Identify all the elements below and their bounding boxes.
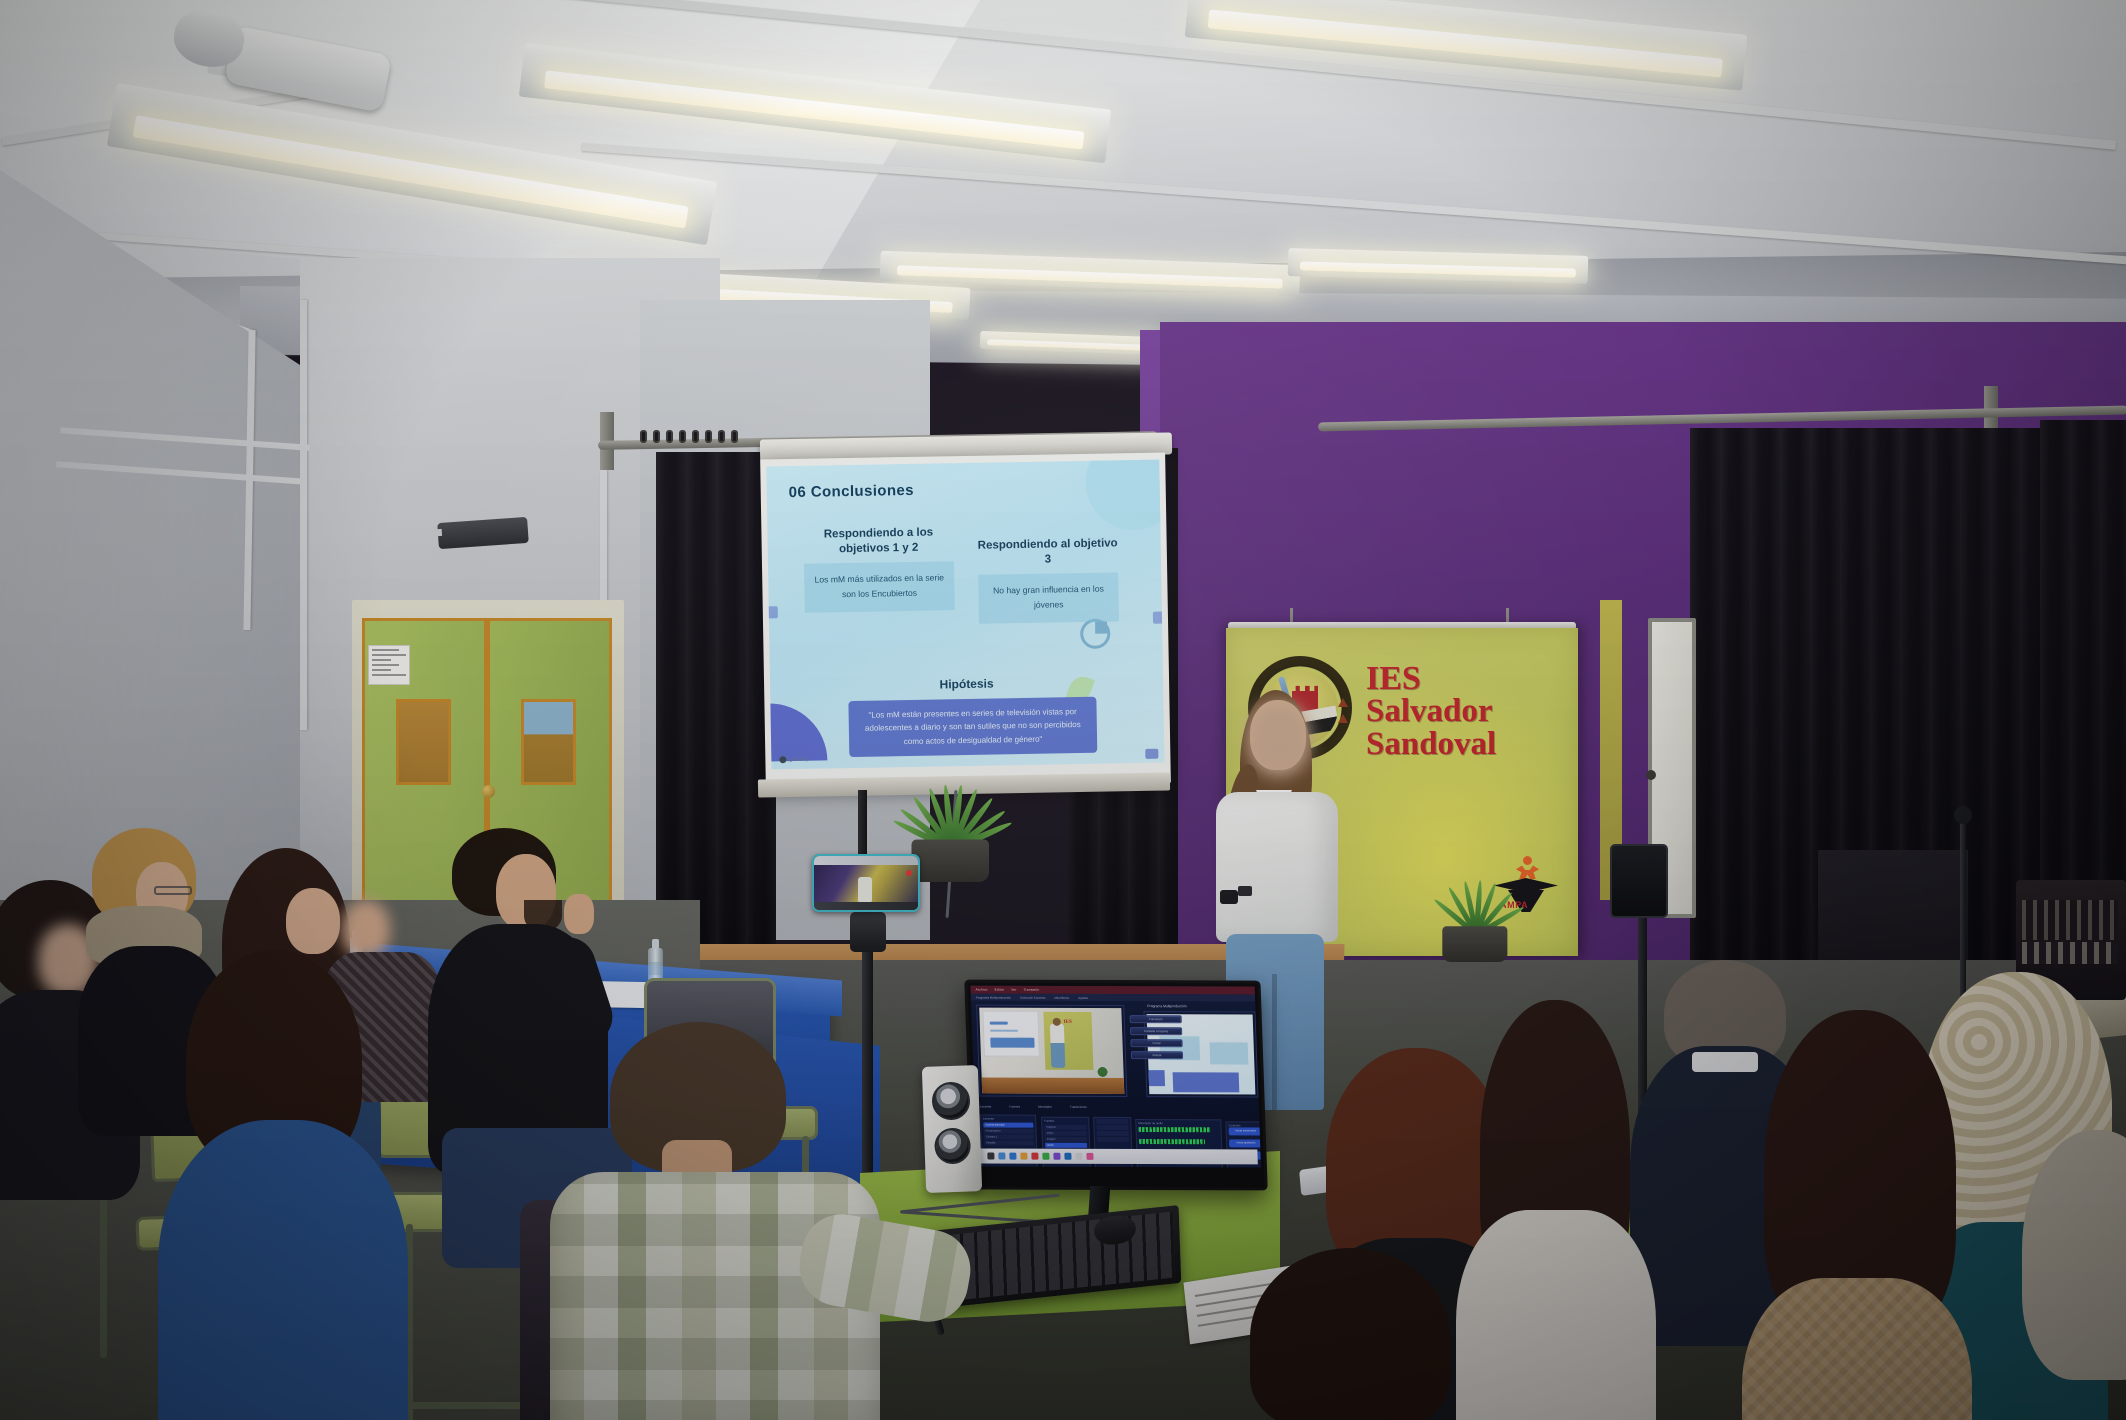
slide-decoration-quarter (768, 702, 827, 761)
source-toggle-row[interactable] (1097, 1137, 1129, 1142)
tab-fuentes[interactable]: Fuentes (1009, 1105, 1020, 1109)
genially-logo-icon (779, 756, 786, 763)
taskbar-app-icon[interactable] (1075, 1153, 1082, 1160)
tripod-head[interactable] (850, 912, 886, 952)
preview-pane-program[interactable] (976, 1005, 1127, 1097)
source-row[interactable]: Vídeo (1045, 1131, 1087, 1136)
transition-controls[interactable]: Transición Pantalla completa Cortar Grab… (1130, 1015, 1184, 1063)
speaker-driver-icon (931, 1081, 970, 1120)
slide-next-button[interactable] (1153, 612, 1165, 624)
genially-label: genially (789, 756, 808, 762)
button-transicion[interactable]: Transición (1130, 1015, 1182, 1023)
button-cortar[interactable]: Cortar (1130, 1039, 1182, 1047)
taskbar-search-icon[interactable] (998, 1153, 1005, 1160)
plant-leaves (904, 750, 999, 850)
door-knob-icon[interactable] (482, 785, 495, 798)
crest-triangle-icon (1338, 714, 1348, 723)
blackout-curtain (656, 452, 776, 972)
menu-item-ver[interactable]: Ver (1011, 988, 1017, 992)
taskbar-app-icon[interactable] (1064, 1153, 1071, 1160)
wall-conduit (300, 300, 307, 730)
preview-slide-thumbnail (982, 1011, 1040, 1057)
panel-tab-row[interactable]: Escenas Fuentes Mezclador Transiciones (980, 1103, 1258, 1112)
eyeglasses-icon (154, 886, 192, 895)
scene-row[interactable]: Presentación (983, 1129, 1033, 1134)
banner-title-line-2: Salvador (1366, 695, 1572, 727)
projection-screen: 06 Conclusiones Respondiendo a los objet… (760, 452, 1171, 789)
crest-triangle-icon (1338, 698, 1348, 707)
hypothesis-text: "Los mM están presentes en series de tel… (848, 697, 1097, 758)
button-iniciar-transmision[interactable]: Iniciar transmisión (1229, 1127, 1261, 1135)
taskbar-explorer-icon[interactable] (1009, 1153, 1016, 1160)
plant-pot (1442, 926, 1507, 962)
monitor-screen[interactable]: Archivo Editar Ver Transmitir Programa M… (970, 986, 1261, 1168)
slide-decoration-circle (1085, 460, 1165, 531)
smartphone-camera[interactable] (812, 854, 920, 912)
banner-title: IES Salvador Sandoval (1366, 662, 1572, 760)
tab-mezclador[interactable]: Mezclador (1038, 1105, 1052, 1109)
slide-column-2: Respondiendo al objetivo 3 No hay gran i… (978, 536, 1119, 623)
presentation-slide: 06 Conclusiones Respondiendo a los objet… (766, 460, 1164, 770)
door-notice-paper (368, 645, 410, 685)
scene-row[interactable]: Cámara 1 (984, 1135, 1034, 1140)
slide-column-2-heading: Respondiendo al objetivo 3 (978, 536, 1118, 568)
tripod-column (1638, 906, 1647, 1116)
phone-status-bar (814, 856, 918, 865)
plant-pot (912, 840, 990, 883)
mixer-faders[interactable] (2022, 942, 2118, 964)
door-window (396, 699, 451, 784)
button-iniciar-grabacion[interactable]: Iniciar grabación (1229, 1139, 1261, 1147)
program-preview-content (979, 1008, 1124, 1094)
phone-camera-preview (814, 865, 918, 906)
scene-row[interactable]: Escena principal (983, 1123, 1033, 1128)
slide-title: 06 Conclusiones (789, 482, 914, 501)
source-row[interactable]: Imagen (1045, 1137, 1087, 1142)
button-pantalla-completa[interactable]: Pantalla completa (1130, 1027, 1182, 1035)
speaker-driver-icon (934, 1127, 971, 1164)
slide-column-1-heading: Respondiendo a los objetivos 1 y 2 (803, 525, 953, 557)
banner-title-line-3: Sandoval (1366, 728, 1572, 760)
record-indicator-icon (906, 870, 912, 876)
presentation-clicker[interactable] (1220, 890, 1238, 904)
banner-title-line-1: IES (1366, 662, 1572, 695)
source-row[interactable]: Audio (1045, 1143, 1087, 1148)
classroom-presentation-scene: 06 Conclusiones Respondiendo a los objet… (0, 0, 2126, 1420)
tab-transiciones[interactable]: Transiciones (1070, 1105, 1087, 1109)
panel-mezclador-header: Mezclador de audio (1136, 1120, 1220, 1126)
panel-escenas-header: Escenas (981, 1116, 1035, 1122)
taskbar-folder-icon[interactable] (1020, 1153, 1027, 1160)
scene-row[interactable]: Pantalla (984, 1140, 1034, 1145)
menu-item-transmitir[interactable]: Transmitir (1024, 988, 1040, 992)
button-grabar[interactable]: Grabar (1131, 1051, 1183, 1059)
slide-column-1-body: Los mM más utilizados en la serie son lo… (804, 562, 955, 613)
preview-presenter-thumbnail (1050, 1024, 1066, 1068)
plant-leaves (1436, 851, 1516, 935)
taskbar-app-icon[interactable] (1053, 1153, 1060, 1160)
subbar-item-ajustes[interactable]: Ajustes (1078, 995, 1088, 999)
source-toggle-row[interactable] (1096, 1119, 1128, 1124)
slide-fullscreen-button[interactable] (1145, 749, 1158, 759)
taskbar-start-icon[interactable] (987, 1153, 994, 1160)
taskbar-app-icon[interactable] (1031, 1153, 1038, 1160)
computer-monitor[interactable]: Archivo Editar Ver Transmitir Programa M… (964, 980, 1268, 1191)
windows-taskbar[interactable] (979, 1148, 1258, 1164)
source-toggle-row[interactable] (1096, 1125, 1128, 1130)
source-toggle-row[interactable] (1097, 1131, 1129, 1136)
wristwatch-icon (1238, 886, 1252, 896)
preview-stage-thumbnail (982, 1078, 1125, 1094)
subbar-item-programa[interactable]: Programa Multiproducción (976, 995, 1011, 999)
mixer-knobs[interactable] (2022, 900, 2118, 940)
mounted-tablet[interactable] (1610, 844, 1668, 918)
desktop-speaker (922, 1065, 982, 1193)
genially-watermark: genially (779, 756, 808, 764)
presenter-shirt (1216, 792, 1338, 942)
ampa-person-icon (1516, 856, 1538, 882)
slide-column-2-body: No hay gran influencia en los jóvenes (978, 573, 1119, 623)
audio-level-meter (1138, 1127, 1210, 1132)
menu-item-archivo[interactable]: Archivo (976, 988, 988, 992)
pie-chart-icon (1080, 618, 1111, 649)
source-row[interactable]: Captura (1044, 1125, 1086, 1130)
taskbar-app-icon[interactable] (1042, 1153, 1049, 1160)
phone-control-bar (814, 902, 918, 910)
menu-item-editar[interactable]: Editar (995, 988, 1005, 992)
tab-escenas[interactable]: Escenas (980, 1105, 992, 1109)
taskbar-app-icon[interactable] (1086, 1153, 1093, 1160)
subbar-item-microfonos[interactable]: Micrófonos (1054, 995, 1069, 999)
app-main-area: Programa Multiproducción 06 Conclusiones… (971, 1001, 1260, 1132)
curtain-rings (640, 430, 738, 443)
slide-column-1: Respondiendo a los objetivos 1 y 2 Los m… (803, 525, 954, 612)
hypothesis-label: Hipótesis (770, 674, 1163, 695)
door-window (521, 699, 576, 784)
presenter-face-blurred (1248, 702, 1310, 776)
preview-pane-title: Programa Multiproducción (1147, 1004, 1187, 1008)
audio-level-meter (1139, 1139, 1205, 1144)
slide-prev-button[interactable] (766, 606, 778, 618)
subbar-item-coleccion[interactable]: Colección Escenas (1020, 995, 1046, 999)
panel-fuentes-header: Fuentes (1042, 1118, 1088, 1124)
